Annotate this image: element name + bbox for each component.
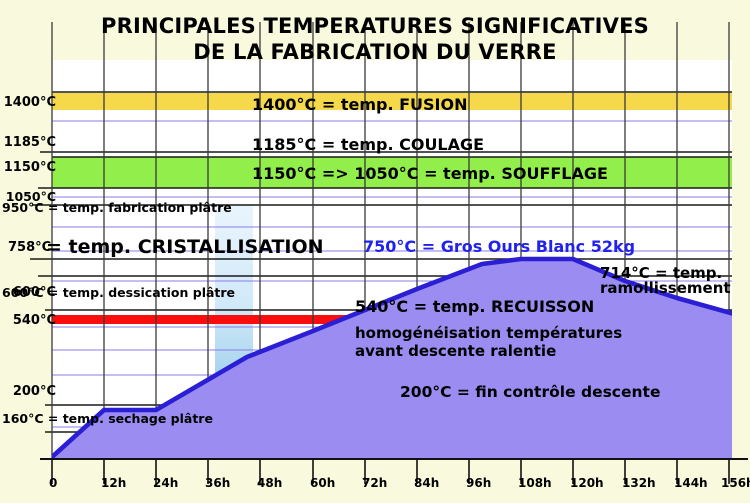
y-axis-label-1185: 1185°C	[0, 135, 56, 150]
annotation-cristallisation: = temp. CRISTALLISATION	[46, 236, 324, 258]
y-axis-label-1150: 1150°C	[0, 160, 56, 175]
x-axis-label-12h: 12h	[101, 476, 126, 490]
annotation-fin-controle: 200°C = fin contrôle descente	[400, 383, 660, 401]
x-axis-label-84h: 84h	[414, 476, 439, 490]
x-axis-label-36h: 36h	[205, 476, 230, 490]
annotation-ours-blanc: 750°C = Gros Ours Blanc 52kg	[363, 237, 635, 256]
x-axis-label-24h: 24h	[153, 476, 178, 490]
annotation-cristallisation-value: 758°C	[8, 240, 51, 255]
annotation-fusion: 1400°C = temp. FUSION	[252, 95, 467, 114]
y-axis-label-1400: 1400°C	[0, 95, 56, 110]
annotation-ramollissement: 714°C = temp. ramollissement	[600, 266, 731, 296]
y-axis-label-540: 540°C	[0, 313, 56, 328]
x-axis-label-0: 0	[49, 476, 57, 490]
x-axis-label-108h: 108h	[518, 476, 552, 490]
x-axis-label-120h: 120h	[570, 476, 604, 490]
x-axis-label-96h: 96h	[466, 476, 491, 490]
annotation-homogeneisation-1: homogénéisation températures	[355, 324, 622, 342]
y-axis-label-200: 200°C	[0, 384, 56, 399]
x-axis-label-132h: 132h	[622, 476, 656, 490]
annotation-dessication-platre: 600°C = temp. dessication plâtre	[2, 285, 235, 300]
annotation-fabrication-platre: 950°C = temp. fabrication plâtre	[2, 200, 232, 215]
x-axis-label-156h: 156h	[721, 476, 750, 490]
x-axis-label-60h: 60h	[310, 476, 335, 490]
annotation-recuisson: 540°C = temp. RECUISSON	[355, 297, 594, 316]
x-axis-label-72h: 72h	[362, 476, 387, 490]
x-axis-label-144h: 144h	[674, 476, 708, 490]
x-axis-label-48h: 48h	[257, 476, 282, 490]
annotation-homogeneisation-2: avant descente ralentie	[355, 342, 556, 360]
annotation-coulage: 1185°C = temp. COULAGE	[252, 135, 484, 154]
annotation-sechage-platre: 160°C = temp. sechage plâtre	[2, 411, 213, 426]
annotation-soufflage: 1150°C => 1050°C = temp. SOUFFLAGE	[252, 164, 608, 183]
page-title: PRINCIPALES TEMPERATURES SIGNIFICATIVES …	[0, 14, 750, 65]
